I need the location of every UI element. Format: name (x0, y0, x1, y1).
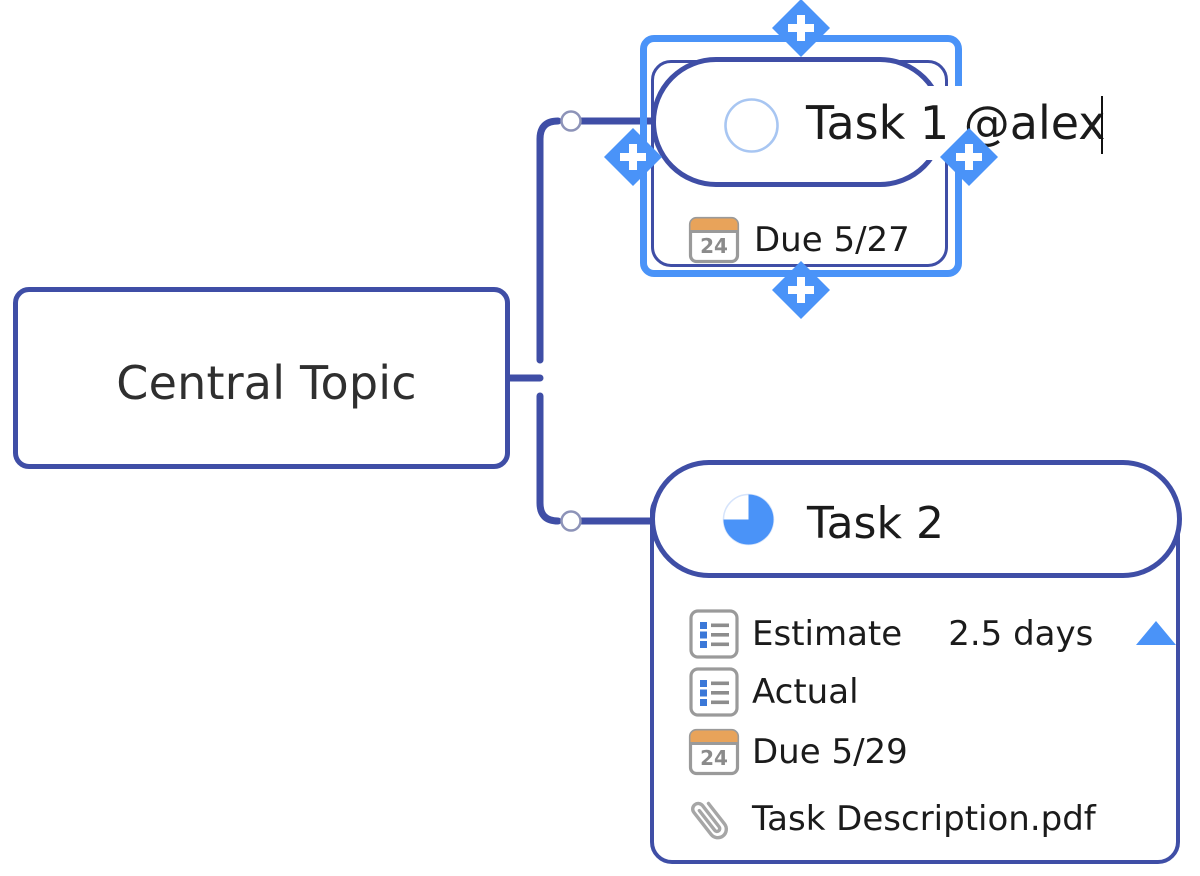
task2-estimate-value[interactable]: 2.5 days (948, 614, 1093, 654)
task-list-icon (688, 608, 740, 660)
task2-due-label: Due 5/29 (752, 732, 908, 772)
calendar-icon: 24 (688, 726, 740, 778)
task2-row-attachment[interactable]: Task Description.pdf (686, 792, 1096, 846)
calendar-day-number: 24 (700, 234, 728, 258)
text-edit-caret (1101, 96, 1103, 154)
add-parent-left-handle[interactable] (602, 126, 664, 188)
central-topic-label: Central Topic (18, 292, 515, 474)
branch-handle-task2[interactable] (562, 512, 581, 531)
task2-estimate-label: Estimate (752, 614, 902, 654)
task1-due-label: Due 5/27 (754, 220, 910, 260)
caret-up-icon[interactable] (1135, 620, 1177, 646)
task2-row-estimate[interactable]: Estimate 2.5 days (688, 608, 1093, 660)
add-child-right-handle[interactable] (938, 126, 1000, 188)
task-list-icon (688, 666, 740, 718)
task2-actual-label: Actual (752, 672, 859, 712)
branch-handle-task1[interactable] (562, 112, 581, 131)
progress-pie-75-icon[interactable] (722, 493, 775, 546)
task2-attachment-label: Task Description.pdf (752, 799, 1096, 839)
add-sibling-top-handle[interactable] (770, 0, 832, 59)
paperclip-icon (686, 792, 740, 846)
task2-title-text: Task 2 (807, 502, 944, 546)
add-sibling-bottom-handle[interactable] (770, 259, 832, 321)
progress-circle-empty-icon[interactable] (723, 97, 780, 154)
task2-row-due[interactable]: 24 Due 5/29 (688, 726, 908, 778)
calendar-day-number: 24 (700, 746, 728, 770)
calendar-icon: 24 (688, 214, 740, 266)
task2-row-actual[interactable]: Actual (688, 666, 859, 718)
central-topic-node[interactable]: Central Topic (13, 287, 510, 469)
